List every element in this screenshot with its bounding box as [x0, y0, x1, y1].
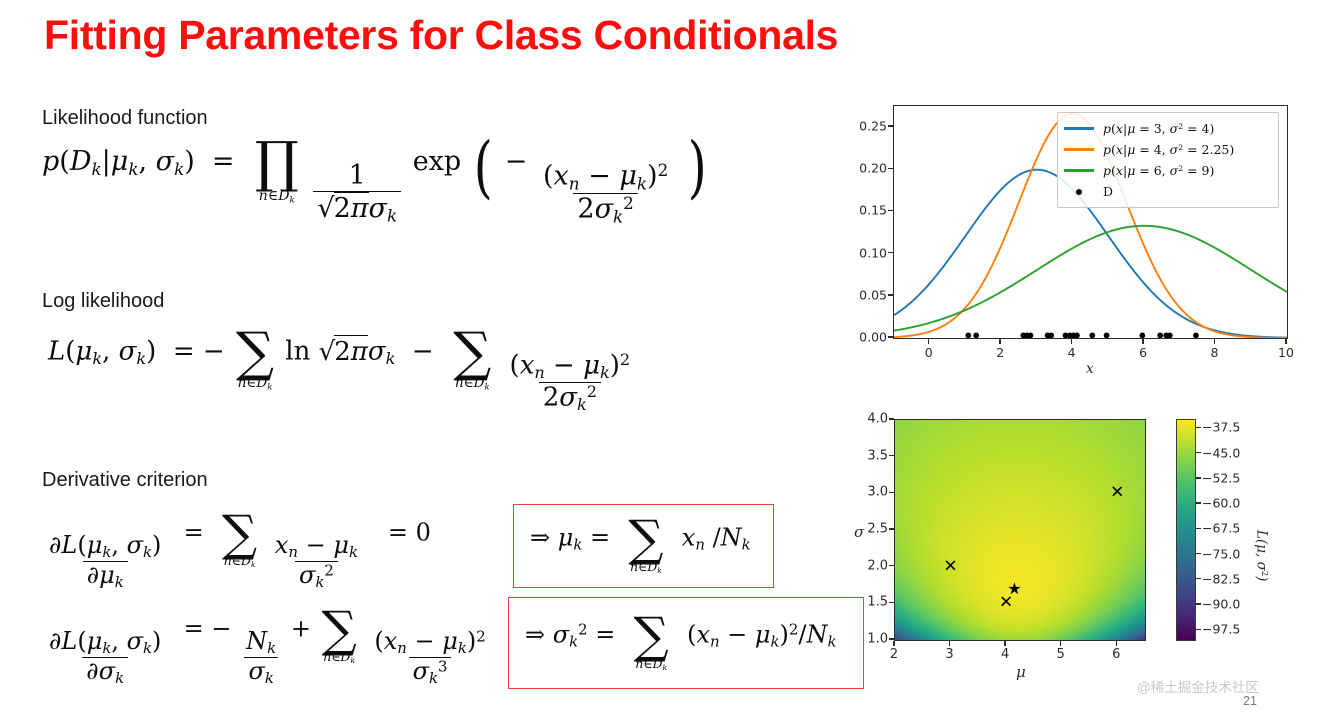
contour-xtickmark-2	[1004, 641, 1005, 646]
data-point-1	[973, 333, 979, 339]
gaussian-xtick-2: 4	[1068, 345, 1076, 360]
contour-ytick-3: 2.5	[846, 522, 888, 537]
slide-root: Fitting Parameters for Class Conditional…	[0, 0, 1328, 713]
legend-swatch-line-0	[1064, 127, 1094, 129]
contour-xtick-4: 6	[1112, 647, 1120, 662]
gaussian-ytick-3: 0.15	[846, 203, 887, 218]
contour-xtickmark-0	[893, 641, 894, 646]
gaussian-ytick-1: 0.05	[846, 287, 887, 302]
contour-marker-x-1: ✕	[1110, 485, 1124, 502]
gaussian-ytick-4: 0.20	[846, 161, 887, 176]
result-box-sigma: ⇒ σk2 = ∑n∈Dk (xn − μk)2/Nk	[508, 597, 864, 689]
colorbar-tickmark-2	[1196, 477, 1201, 478]
contour-xtick-1: 3	[945, 647, 953, 662]
colorbar-tickmark-3	[1196, 502, 1201, 503]
colorbar-tick-8: −97.5	[1202, 622, 1240, 637]
contour-xtick-3: 5	[1057, 647, 1065, 662]
contour-ytick-5: 3.5	[846, 448, 888, 463]
contour-xtickmark-3	[1060, 641, 1061, 646]
gaussian-legend: p(x|μ = 3, σ2 = 4) p(x|μ = 4, σ2 = 2.25)…	[1057, 112, 1279, 208]
legend-swatch-line-2	[1064, 169, 1094, 171]
legend-entry-1: p(x|μ = 4, σ2 = 2.25)	[1064, 139, 1271, 160]
figure-gaussian-pdfs: p(x|μ = 3, σ2 = 4) p(x|μ = 4, σ2 = 2.25)…	[846, 96, 1301, 376]
legend-swatch-line-1	[1064, 148, 1094, 150]
gaussian-x-axis-label: x	[1086, 361, 1094, 377]
legend-label-3: D	[1103, 184, 1113, 199]
gaussian-ytickmark-3	[888, 210, 893, 211]
section-heading-likelihood: Likelihood function	[42, 107, 208, 130]
contour-marker-star-3: ★	[1007, 581, 1021, 597]
contour-plot-axes: ✕✕✕★	[894, 419, 1146, 641]
gaussian-ytickmark-5	[888, 125, 893, 126]
gaussian-ytick-5: 0.25	[846, 119, 887, 134]
gaussian-curve-2	[894, 226, 1287, 331]
contour-ytick-0: 1.0	[846, 632, 888, 647]
contour-ytickmark-5	[889, 455, 894, 456]
colorbar-tick-0: −37.5	[1202, 420, 1240, 435]
colorbar-tickmark-1	[1196, 452, 1201, 453]
watermark: @稀土掘金技术社区	[1137, 676, 1259, 696]
contour-ytick-6: 4.0	[846, 412, 888, 427]
equation-result-mu: ⇒ μk = ∑n∈Dk xn /Nk	[530, 517, 751, 574]
colorbar-tickmark-7	[1196, 603, 1201, 604]
colorbar-tickmark-0	[1196, 427, 1201, 428]
legend-swatch-dot-3	[1064, 189, 1094, 195]
contour-ytickmark-6	[889, 418, 894, 419]
gaussian-xtick-4: 8	[1211, 345, 1219, 360]
contour-ytickmark-4	[889, 492, 894, 493]
page-title: Fitting Parameters for Class Conditional…	[44, 12, 838, 59]
data-point-11	[1089, 333, 1095, 339]
gaussian-xtick-0: 0	[925, 345, 933, 360]
gaussian-xtick-5: 10	[1278, 345, 1294, 360]
colorbar-tick-4: −67.5	[1202, 521, 1240, 536]
colorbar-tickmark-5	[1196, 553, 1201, 554]
result-box-mu: ⇒ μk = ∑n∈Dk xn /Nk	[513, 504, 774, 588]
figure-loglikelihood-contour: ✕✕✕★ 1.01.52.02.53.03.54.0 23456 μ σ −37…	[846, 405, 1326, 700]
contour-ytickmark-1	[889, 602, 894, 603]
gaussian-xtick-3: 6	[1139, 345, 1147, 360]
contour-x-axis-label: μ	[1016, 663, 1026, 681]
contour-ytickmark-2	[889, 565, 894, 566]
colorbar-tick-3: −60.0	[1202, 496, 1240, 511]
contour-ytick-2: 2.0	[846, 558, 888, 573]
colorbar-tick-2: −52.5	[1202, 470, 1240, 485]
gaussian-ytick-2: 0.10	[846, 245, 887, 260]
legend-entry-0: p(x|μ = 3, σ2 = 4)	[1064, 118, 1271, 139]
colorbar-tickmark-6	[1196, 578, 1201, 579]
contour-xtick-2: 4	[1001, 647, 1009, 662]
page-number: 21	[1243, 694, 1257, 708]
contour-xtickmark-1	[949, 641, 950, 646]
gaussian-ytickmark-1	[888, 294, 893, 295]
gaussian-ytick-0: 0.00	[846, 330, 887, 345]
colorbar-tickmark-4	[1196, 528, 1201, 529]
contour-ytickmark-0	[889, 638, 894, 639]
section-heading-derivative: Derivative criterion	[42, 469, 208, 492]
contour-marker-x-0: ✕	[943, 558, 957, 575]
contour-y-axis-label: σ	[854, 523, 864, 541]
data-point-17	[1193, 333, 1199, 339]
gaussian-ytickmark-2	[888, 252, 893, 253]
data-point-14	[1157, 333, 1163, 339]
section-heading-loglikelihood: Log likelihood	[42, 290, 164, 313]
equation-dL-dmu: ∂L(μk, σk) ∂μk = ∑n∈Dk xn − μk σk2 = 0	[42, 512, 431, 591]
gaussian-xtickmark-1	[999, 339, 1000, 344]
gaussian-xtickmark-0	[928, 339, 929, 344]
colorbar-tickmark-8	[1196, 629, 1201, 630]
legend-entry-2: p(x|μ = 6, σ2 = 9)	[1064, 160, 1271, 181]
legend-label-1: p(x|μ = 4, σ2 = 2.25)	[1103, 142, 1234, 157]
equation-likelihood: p(Dk|μk, σk) = ∏n∈Dk 1 √2πσk exp ( − (xn…	[42, 140, 710, 226]
contour-surface	[895, 420, 1145, 640]
data-point-12	[1104, 333, 1110, 339]
legend-label-0: p(x|μ = 3, σ2 = 4)	[1103, 121, 1214, 136]
data-point-13	[1139, 333, 1145, 339]
colorbar-tick-5: −75.0	[1202, 546, 1240, 561]
contour-ytick-4: 3.0	[846, 485, 888, 500]
equation-result-sigma: ⇒ σk2 = ∑n∈Dk (xn − μk)2/Nk	[525, 614, 836, 671]
legend-entry-3: D	[1064, 181, 1271, 202]
gaussian-ytickmark-4	[888, 168, 893, 169]
gaussian-xtickmark-5	[1285, 339, 1286, 344]
contour-xtickmark-4	[1116, 641, 1117, 646]
colorbar-tick-7: −90.0	[1202, 597, 1240, 612]
equation-loglikelihood: L(μk, σk) = − ∑n∈Dk ln √2πσk − ∑n∈Dk (xn…	[48, 330, 637, 414]
colorbar	[1176, 419, 1196, 641]
colorbar-label: L(μ, σ2)	[1254, 530, 1270, 581]
contour-ytick-1: 1.5	[846, 595, 888, 610]
colorbar-tick-1: −45.0	[1202, 445, 1240, 460]
data-point-0	[965, 333, 971, 339]
gaussian-xtickmark-2	[1071, 339, 1072, 344]
gaussian-xtickmark-3	[1142, 339, 1143, 344]
colorbar-tick-6: −82.5	[1202, 571, 1240, 586]
equation-dL-dsigma: ∂L(μk, σk) ∂σk = − Nk σk + ∑n∈Dk (xn − μ…	[42, 608, 551, 687]
contour-xtick-0: 2	[890, 647, 898, 662]
gaussian-xtickmark-4	[1214, 339, 1215, 344]
legend-label-2: p(x|μ = 6, σ2 = 9)	[1103, 163, 1214, 178]
contour-ytickmark-3	[889, 528, 894, 529]
gaussian-xtick-1: 2	[996, 345, 1004, 360]
gaussian-ytickmark-0	[888, 336, 893, 337]
gaussian-plot-axes: p(x|μ = 3, σ2 = 4) p(x|μ = 4, σ2 = 2.25)…	[893, 105, 1288, 339]
